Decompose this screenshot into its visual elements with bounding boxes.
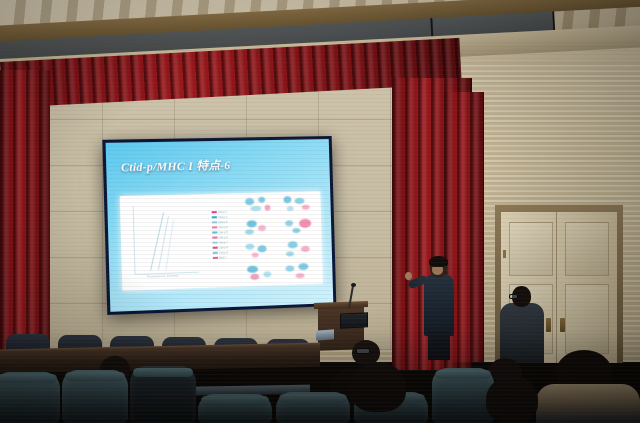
- micrograph-cell: [243, 239, 281, 261]
- seat[interactable]: [198, 394, 272, 423]
- legend-label: Ctid-p 1: [218, 210, 227, 213]
- legend-label: Ctid-p 9: [219, 251, 228, 254]
- confidence-monitor: [340, 312, 368, 328]
- seat[interactable]: [130, 366, 196, 423]
- legend-swatch: [212, 211, 217, 214]
- seat[interactable]: [0, 372, 60, 423]
- legend-swatch: [212, 226, 217, 229]
- legend-swatch: [213, 256, 218, 259]
- standing-attendee-jacket: [500, 303, 544, 363]
- presenter-laptop: [316, 329, 334, 340]
- micrograph-cell: [242, 194, 280, 216]
- legend-item: Ctid-p 1: [212, 210, 239, 215]
- seat-headrest: [435, 370, 491, 379]
- legend-item: Ctid-p 8: [213, 245, 240, 250]
- legend-swatch: [212, 231, 217, 234]
- slide-content-panel: Fluorescence intensity Ctid-p 1 Ctid-p 2…: [120, 191, 323, 290]
- audience-hair: [350, 362, 406, 412]
- door-center-seam: [556, 212, 557, 363]
- legend-item: Ctid-p 5: [212, 230, 239, 235]
- micrograph-cell: [281, 193, 319, 215]
- legend-label: Ctid-p 6: [218, 236, 227, 239]
- legend-label: Ctid-p 7: [219, 241, 228, 244]
- legend-label: Ctid-p 8: [219, 246, 228, 249]
- seat-headrest: [201, 396, 269, 405]
- seat-headrest: [133, 368, 193, 377]
- seat[interactable]: [62, 370, 128, 423]
- presenter-hand: [405, 272, 412, 280]
- micrograph-cell: [282, 238, 320, 260]
- legend-item: Ctid-p 6: [212, 235, 239, 240]
- microphone-icon: [351, 283, 356, 287]
- legend-swatch: [212, 236, 217, 239]
- seat[interactable]: [432, 368, 494, 423]
- door-panel: [565, 222, 609, 276]
- slide-line-chart: Fluorescence intensity: [124, 200, 203, 284]
- legend-item: Ctid-p 4: [212, 225, 239, 230]
- presenter-jacket: [424, 274, 454, 336]
- legend-label: Ctid-p 2: [218, 215, 227, 218]
- glasses-icon: [509, 294, 518, 299]
- door-handle[interactable]: [546, 318, 551, 332]
- curtain-left: [0, 70, 50, 370]
- legend-label: MHC I: [219, 256, 227, 259]
- door-panel: [509, 222, 553, 276]
- glasses-icon: [356, 348, 370, 354]
- micrograph-cell: [244, 262, 282, 284]
- micrograph-cell: [242, 217, 280, 239]
- presentation-slide: Ctid-p/MHC I 特点-6 Fluorescence intensity…: [106, 139, 334, 312]
- door-handle-secondary[interactable]: [560, 318, 565, 332]
- seat-headrest: [0, 374, 57, 383]
- seat-headrest: [279, 394, 347, 403]
- legend-item: Ctid-p 3: [212, 220, 239, 225]
- legend-item: MHC I: [213, 255, 240, 260]
- micrograph-cell: [282, 216, 320, 238]
- fur-hood-collar: [536, 384, 640, 423]
- slide-legend: Ctid-p 1 Ctid-p 2 Ctid-p 3 Ctid-p 4: [212, 210, 240, 262]
- legend-label: Ctid-p 5: [218, 231, 227, 234]
- slide-title: Ctid-p/MHC I 特点-6: [121, 157, 231, 176]
- legend-label: Ctid-p 3: [218, 220, 227, 223]
- legend-swatch: [213, 246, 218, 249]
- chart-y-axis: [133, 206, 136, 274]
- door-hinge: [503, 250, 506, 258]
- legend-item: Ctid-p 7: [212, 240, 239, 245]
- presenter-hair: [429, 256, 448, 267]
- legend-label: Ctid-p 4: [218, 226, 227, 229]
- legend-swatch: [213, 251, 218, 254]
- door-panel: [565, 284, 609, 354]
- micrograph-cell: [283, 261, 321, 283]
- legend-item: Ctid-p 2: [212, 215, 239, 220]
- legend-swatch: [212, 241, 217, 244]
- seat-headrest: [65, 372, 125, 381]
- chart-axis-label: Fluorescence intensity: [147, 274, 178, 278]
- audience-hair: [486, 376, 538, 423]
- slide-image-grid: [242, 193, 321, 284]
- auditorium-photo: Ctid-p/MHC I 特点-6 Fluorescence intensity…: [0, 0, 640, 423]
- legend-item: Ctid-p 9: [213, 250, 240, 255]
- seat[interactable]: [276, 392, 350, 423]
- legend-swatch: [212, 216, 217, 219]
- presenter-legs: [428, 330, 450, 360]
- projection-screen[interactable]: Ctid-p/MHC I 特点-6 Fluorescence intensity…: [102, 136, 336, 315]
- legend-swatch: [212, 221, 217, 224]
